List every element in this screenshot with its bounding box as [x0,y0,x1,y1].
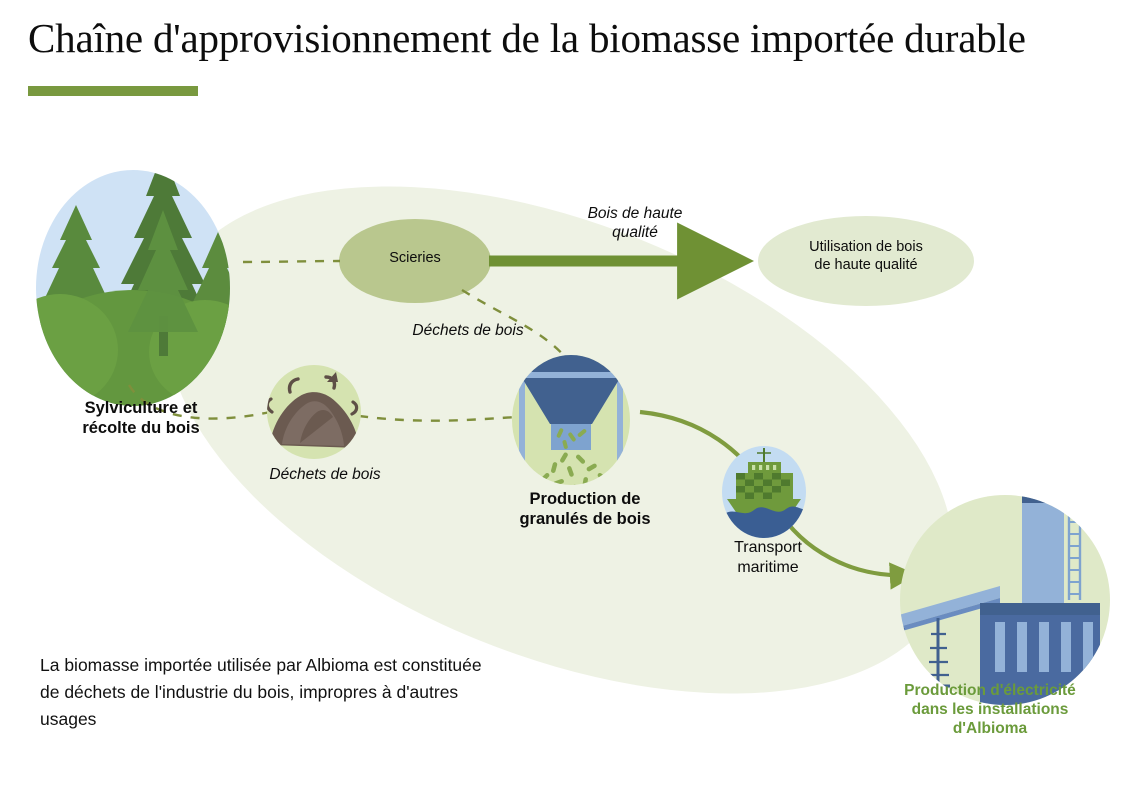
electricite-line-2: dans les installations [845,701,1135,720]
bois-haute-line-1: Bois de haute [520,205,750,224]
caption-text: La biomasse importée utilisée par Albiom… [40,652,653,733]
granules-line-2: granulés de bois [455,509,715,529]
sylviculture-line-2: récolte du bois [36,418,246,438]
caption-line-1: La biomasse importée utilisée par Albiom… [40,652,653,679]
utilisation-line-1: Utilisation de bois [756,239,976,257]
bois-haute-line-2: qualité [520,224,750,243]
node-label-pellet-production: Production de granulés de bois [455,489,715,529]
electricite-line-1: Production d'électricité [845,682,1135,701]
node-label-sylviculture: Sylviculture et récolte du bois [36,398,246,438]
granules-line-1: Production de [455,489,715,509]
edge-label-high-quality-wood: Bois de haute qualité [520,205,750,243]
transport-line-1: Transport [688,538,848,558]
edge-label-wood-waste-lower: Déchets de bois [200,466,450,485]
node-label-scieries[interactable]: Scieries [340,250,490,268]
wood-waste-pile-icon [267,365,361,459]
node-label-maritime-transport: Transport maritime [688,538,848,577]
sylviculture-line-1: Sylviculture et [36,398,246,418]
utilisation-line-2: de haute qualité [756,257,976,275]
node-label-high-quality-use[interactable]: Utilisation de bois de haute qualité [756,239,976,274]
edge-label-wood-waste-upper: Déchets de bois [338,322,598,341]
electricite-line-3: d'Albioma [845,720,1135,739]
caption-line-3: usages [40,706,653,733]
transport-line-2: maritime [688,558,848,578]
slide-canvas: Chaîne d'approvisionnement de la biomass… [0,0,1141,794]
caption-line-2: de déchets de l'industrie du bois, impro… [40,679,653,706]
node-label-electricity-production: Production d'électricité dans les instal… [845,682,1135,739]
